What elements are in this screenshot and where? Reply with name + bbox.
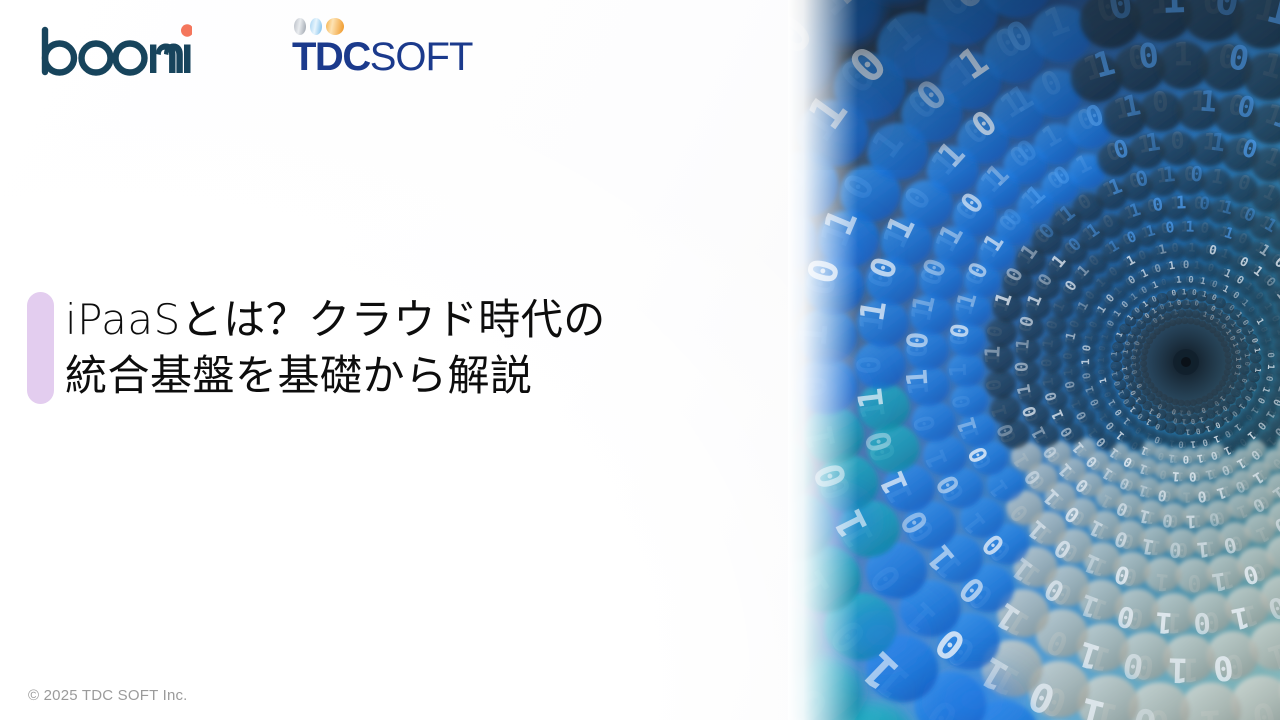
vortex-disc [1097, 365, 1111, 378]
binary-digit: 1 [1171, 469, 1180, 485]
binary-digit: 0 [1183, 453, 1189, 466]
binary-digit: 1 [1265, 364, 1275, 370]
vortex-disc [1040, 352, 1063, 373]
tdcsoft-dots [294, 18, 344, 35]
binary-digit: 1 [1196, 537, 1210, 562]
binary-digit: 0 [901, 331, 935, 351]
binary-digit: 1 [1185, 218, 1194, 235]
vortex-disc [1193, 222, 1216, 243]
copyright-footer: © 2025 TDC SOFT Inc. [28, 687, 188, 704]
binary-digit: 1 [1168, 650, 1189, 689]
binary-digit: 0 [1189, 469, 1197, 484]
tdcsoft-light-text: SOFT [370, 35, 473, 79]
boomi-logo [40, 20, 192, 78]
orange-dot-icon [326, 18, 344, 35]
silver-dot-icon [294, 18, 306, 35]
boomi-dot-icon [181, 24, 192, 36]
vortex-disc [1042, 371, 1065, 392]
binary-digit: 1 [980, 345, 1005, 359]
title-line-2: 統合基盤を基礎から解説 [65, 348, 606, 404]
binary-digit: 0 [1265, 352, 1275, 358]
slide-canvas: TDCSOFT iPaaSとは？クラウド時代の 統合基盤を基礎から解説 © 20… [0, 0, 1280, 720]
binary-digit: 1 [1190, 438, 1196, 448]
slide-title-block: iPaaSとは？クラウド時代の 統合基盤を基礎から解説 [27, 292, 606, 404]
binary-digit: 1 [1013, 338, 1034, 351]
tdcsoft-wordmark: TDCSOFT [292, 37, 472, 77]
binary-digit: 1 [1176, 193, 1187, 213]
binary-digit: 0 [1198, 194, 1211, 215]
binary-digit: 1 [1185, 511, 1196, 531]
binary-digit: 1 [900, 368, 934, 387]
title-line-1: iPaaSとは？クラウド時代の [65, 292, 606, 348]
vortex-disc [1188, 261, 1204, 276]
decorative-artwork: 1010101010101010101010101010101010101010… [788, 0, 1280, 720]
vortex-disc [990, 395, 1022, 425]
page-title: iPaaSとは？クラウド時代の 統合基盤を基礎から解説 [65, 292, 606, 404]
binary-digit: 1 [1176, 275, 1182, 285]
vortex-disc [947, 353, 984, 388]
tdcsoft-logo: TDCSOFT [292, 18, 474, 80]
binary-digit: 1 [1154, 605, 1174, 639]
title-accent-bar [27, 292, 54, 404]
binary-digit: 0 [1183, 258, 1189, 271]
tdcsoft-bold-text: TDC [292, 35, 370, 79]
vortex-disc [912, 401, 956, 442]
binary-digit: 0 [1193, 606, 1212, 640]
light-blue-dot-icon [310, 18, 322, 35]
binary-digit: 0 [1188, 275, 1194, 285]
vortex-disc [951, 383, 988, 418]
binary-digit: 1 [1079, 359, 1092, 365]
logo-bar: TDCSOFT [0, 0, 788, 98]
vortex-disc [1258, 335, 1272, 348]
binary-digit: 0 [1168, 538, 1182, 563]
binary-digit: 0 [1012, 361, 1032, 372]
vortex-disc [1041, 334, 1064, 355]
binary-digit: 0 [1178, 438, 1184, 448]
vortex-disc [985, 369, 1017, 399]
